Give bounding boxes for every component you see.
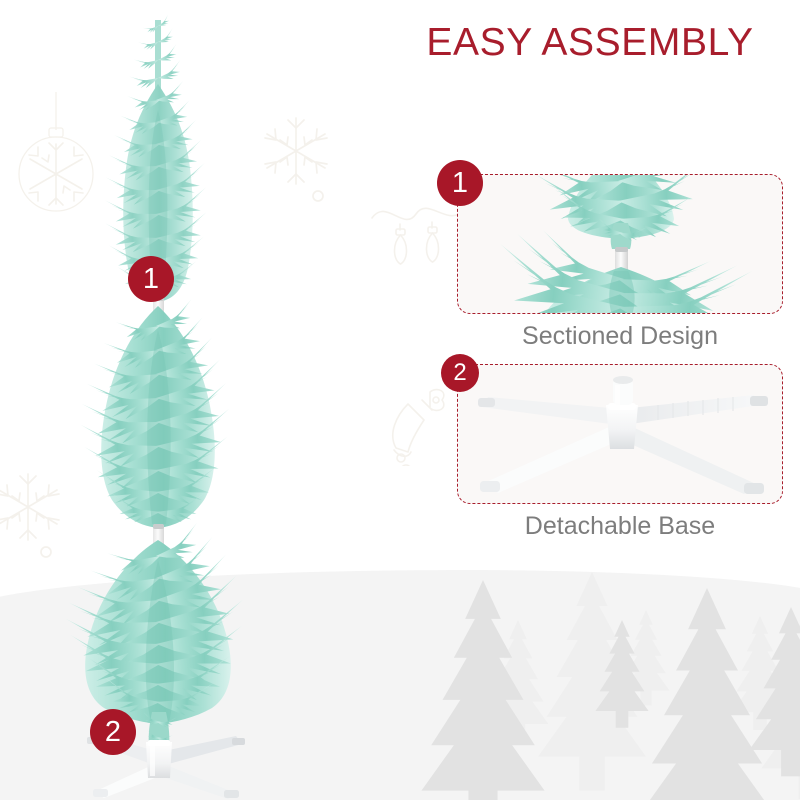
snowflake-icon-left (0, 468, 68, 560)
forest-back-layer (488, 572, 800, 799)
product-feature-graphic: 1 2 EASY ASSEMBLY (0, 0, 800, 800)
callout-2-image (458, 365, 782, 503)
detachable-base-photo (458, 365, 782, 503)
page-title: EASY ASSEMBLY (398, 22, 782, 65)
sectioned-design-photo (458, 175, 782, 313)
tree-section-bottom (65, 523, 249, 752)
callout-1-label: Sectioned Design (457, 322, 783, 351)
callout-1-box[interactable] (457, 174, 783, 314)
tree-marker-1[interactable]: 1 (128, 256, 174, 302)
callout-2-label: Detachable Base (457, 512, 783, 541)
bell-with-bow-icon (378, 382, 460, 466)
callout-1-image (458, 175, 782, 313)
tree-marker-2[interactable]: 2 (90, 709, 136, 755)
callout-1-badge[interactable]: 1 (437, 160, 483, 206)
callout-2-badge[interactable]: 2 (441, 354, 479, 392)
product-christmas-tree (60, 0, 360, 800)
tree-section-middle (80, 299, 234, 528)
callout-2-box[interactable] (457, 364, 783, 504)
